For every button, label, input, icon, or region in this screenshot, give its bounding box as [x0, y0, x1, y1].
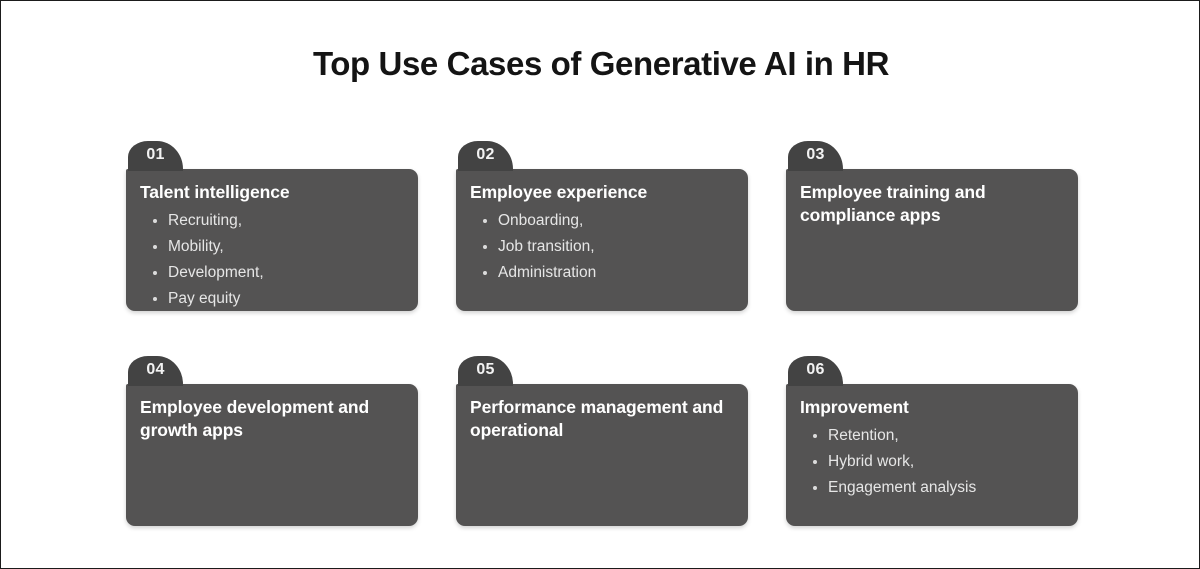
card-bullet-label: Hybrid work,	[828, 453, 914, 470]
bullet-dot-icon	[813, 434, 817, 438]
card-bullet-label: Development,	[168, 264, 264, 281]
bullet-dot-icon	[153, 219, 157, 223]
use-case-card[interactable]: 06ImprovementRetention,Hybrid work,Engag…	[786, 356, 1078, 526]
card-body[interactable]: ImprovementRetention,Hybrid work,Engagem…	[786, 384, 1078, 526]
infographic-canvas: Top Use Cases of Generative AI in HR 01T…	[0, 0, 1200, 569]
card-bullet-label: Job transition,	[498, 238, 595, 255]
card-bullet-label: Onboarding,	[498, 212, 583, 229]
card-bullet-item: Development,	[152, 260, 404, 286]
card-bullet-item: Retention,	[812, 423, 1064, 449]
bullet-dot-icon	[153, 297, 157, 301]
card-heading: Employee development and growth apps	[140, 396, 404, 442]
card-number-tab: 03	[788, 141, 843, 171]
card-bullet-list: Retention,Hybrid work,Engagement analysi…	[800, 423, 1064, 501]
card-bullet-item: Engagement analysis	[812, 475, 1064, 501]
use-case-card[interactable]: 05Performance management and operational	[456, 356, 748, 526]
card-number-tab: 04	[128, 356, 183, 386]
card-bullet-item: Job transition,	[482, 234, 734, 260]
card-number-label: 02	[458, 146, 513, 164]
card-heading: Employee training and compliance apps	[800, 181, 1064, 227]
card-body[interactable]: Talent intelligenceRecruiting,Mobility,D…	[126, 169, 418, 311]
bullet-dot-icon	[483, 219, 487, 223]
card-body[interactable]: Employee experienceOnboarding,Job transi…	[456, 169, 748, 311]
use-case-card[interactable]: 01Talent intelligenceRecruiting,Mobility…	[126, 141, 418, 311]
card-bullet-item: Pay equity	[152, 286, 404, 311]
card-bullet-item: Onboarding,	[482, 208, 734, 234]
card-bullet-item: Administration	[482, 260, 734, 286]
card-number-tab: 02	[458, 141, 513, 171]
card-bullet-label: Recruiting,	[168, 212, 242, 229]
card-heading: Performance management and operational	[470, 396, 734, 442]
card-bullet-item: Hybrid work,	[812, 449, 1064, 475]
card-body[interactable]: Employee development and growth apps	[126, 384, 418, 526]
bullet-dot-icon	[483, 245, 487, 249]
bullet-dot-icon	[153, 245, 157, 249]
card-bullet-label: Retention,	[828, 427, 899, 444]
card-number-label: 06	[788, 361, 843, 379]
card-heading: Employee experience	[470, 181, 734, 204]
card-bullet-label: Pay equity	[168, 290, 240, 307]
bullet-dot-icon	[483, 271, 487, 275]
card-body[interactable]: Employee training and compliance apps	[786, 169, 1078, 311]
card-bullet-label: Engagement analysis	[828, 479, 976, 496]
card-heading: Talent intelligence	[140, 181, 404, 204]
card-number-label: 03	[788, 146, 843, 164]
use-case-card[interactable]: 04Employee development and growth apps	[126, 356, 418, 526]
use-case-card[interactable]: 02Employee experienceOnboarding,Job tran…	[456, 141, 748, 311]
card-number-label: 01	[128, 146, 183, 164]
card-number-label: 04	[128, 361, 183, 379]
card-number-tab: 01	[128, 141, 183, 171]
card-bullet-list: Onboarding,Job transition,Administration	[470, 208, 734, 286]
card-bullet-item: Recruiting,	[152, 208, 404, 234]
card-bullet-label: Mobility,	[168, 238, 224, 255]
bullet-dot-icon	[813, 486, 817, 490]
card-number-label: 05	[458, 361, 513, 379]
card-number-tab: 05	[458, 356, 513, 386]
card-heading: Improvement	[800, 396, 1064, 419]
page-title: Top Use Cases of Generative AI in HR	[1, 45, 1200, 83]
use-case-card-grid: 01Talent intelligenceRecruiting,Mobility…	[126, 141, 1078, 526]
bullet-dot-icon	[813, 460, 817, 464]
card-bullet-list: Recruiting,Mobility,Development,Pay equi…	[140, 208, 404, 311]
bullet-dot-icon	[153, 271, 157, 275]
card-number-tab: 06	[788, 356, 843, 386]
card-body[interactable]: Performance management and operational	[456, 384, 748, 526]
card-bullet-item: Mobility,	[152, 234, 404, 260]
card-bullet-label: Administration	[498, 264, 596, 281]
use-case-card[interactable]: 03Employee training and compliance apps	[786, 141, 1078, 311]
